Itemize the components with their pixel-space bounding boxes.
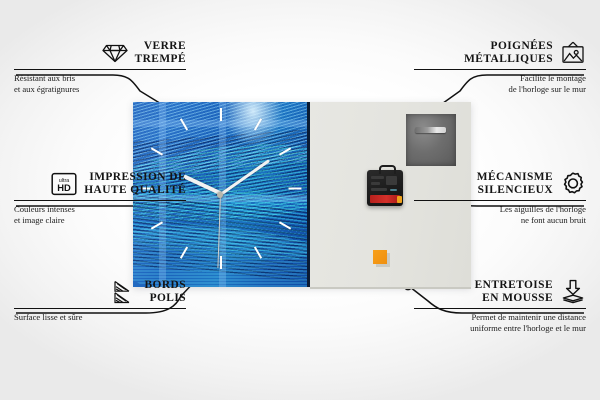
- feature-title: POIGNÉES MÉTALLIQUES: [464, 40, 553, 65]
- gear-icon: [560, 171, 586, 197]
- feature-header: ENTRETOISE EN MOUSSE: [414, 279, 586, 305]
- polished-edge-icon: [112, 279, 138, 305]
- clock-tick: [289, 188, 302, 190]
- feature-divider: [414, 308, 586, 309]
- feature-subtitle: Résistant aux bris et aux égratignures: [14, 73, 186, 94]
- feature-title: VERRE TREMPÉ: [135, 40, 186, 65]
- highlight-glow: [223, 102, 283, 146]
- feature-poignees-metalliques: POIGNÉES MÉTALLIQUES Facilite le montage…: [414, 40, 586, 94]
- metal-hanger-plate: [406, 114, 456, 166]
- feature-entretoise-en-mousse: ENTRETOISE EN MOUSSE Permet de maintenir…: [414, 279, 586, 333]
- feature-verre-trempe: VERRE TREMPÉ Résistant aux bris et aux é…: [14, 40, 186, 94]
- feature-divider: [414, 200, 586, 201]
- diamond-icon: [102, 40, 128, 66]
- feature-divider: [14, 308, 186, 309]
- feature-impression-haute-qualite: ultra HD IMPRESSION DE HAUTE QUALITÉ Cou…: [14, 171, 186, 225]
- ultra-hd-badge-icon: ultra HD: [51, 171, 77, 197]
- mechanism-hook: [379, 165, 396, 174]
- feature-divider: [14, 200, 186, 201]
- feature-bords-polis: BORDS POLIS Surface lisse et sûre: [14, 279, 186, 323]
- battery: [370, 195, 400, 203]
- feature-mecanisme-silencieux: MÉCANISME SILENCIEUX Les aiguilles de l'…: [414, 171, 586, 225]
- feature-divider: [414, 69, 586, 70]
- arrow-down-pad-icon: [560, 279, 586, 305]
- foam-spacer: [373, 250, 387, 264]
- feature-subtitle: Couleurs intenses et image claire: [14, 204, 186, 225]
- hanger-slot: [415, 127, 446, 133]
- infographic-canvas: VERRE TREMPÉ Résistant aux bris et aux é…: [0, 0, 600, 400]
- feature-subtitle: Surface lisse et sûre: [14, 312, 186, 322]
- clock-mechanism: [367, 170, 403, 206]
- feature-header: BORDS POLIS: [14, 279, 186, 305]
- feature-header: ultra HD IMPRESSION DE HAUTE QUALITÉ: [14, 171, 186, 197]
- feature-header: MÉCANISME SILENCIEUX: [414, 171, 586, 197]
- feature-subtitle: Facilite le montage de l'horloge sur le …: [414, 73, 586, 94]
- feature-title: MÉCANISME SILENCIEUX: [477, 171, 553, 196]
- clock-tick: [220, 256, 222, 269]
- feature-header: POIGNÉES MÉTALLIQUES: [414, 40, 586, 66]
- svg-text:HD: HD: [57, 182, 71, 193]
- feature-header: VERRE TREMPÉ: [14, 40, 186, 66]
- clock-center-cap: [217, 192, 223, 198]
- feature-title: ENTRETOISE EN MOUSSE: [475, 279, 553, 304]
- feature-title: IMPRESSION DE HAUTE QUALITÉ: [84, 171, 186, 196]
- feature-title: BORDS POLIS: [145, 279, 187, 304]
- feature-subtitle: Les aiguilles de l'horloge ne font aucun…: [414, 204, 586, 225]
- feature-subtitle: Permet de maintenir une distance uniform…: [414, 312, 586, 333]
- battery-terminal: [397, 196, 402, 203]
- clock-tick: [220, 108, 222, 121]
- feature-divider: [14, 69, 186, 70]
- picture-frame-hanger-icon: [560, 40, 586, 66]
